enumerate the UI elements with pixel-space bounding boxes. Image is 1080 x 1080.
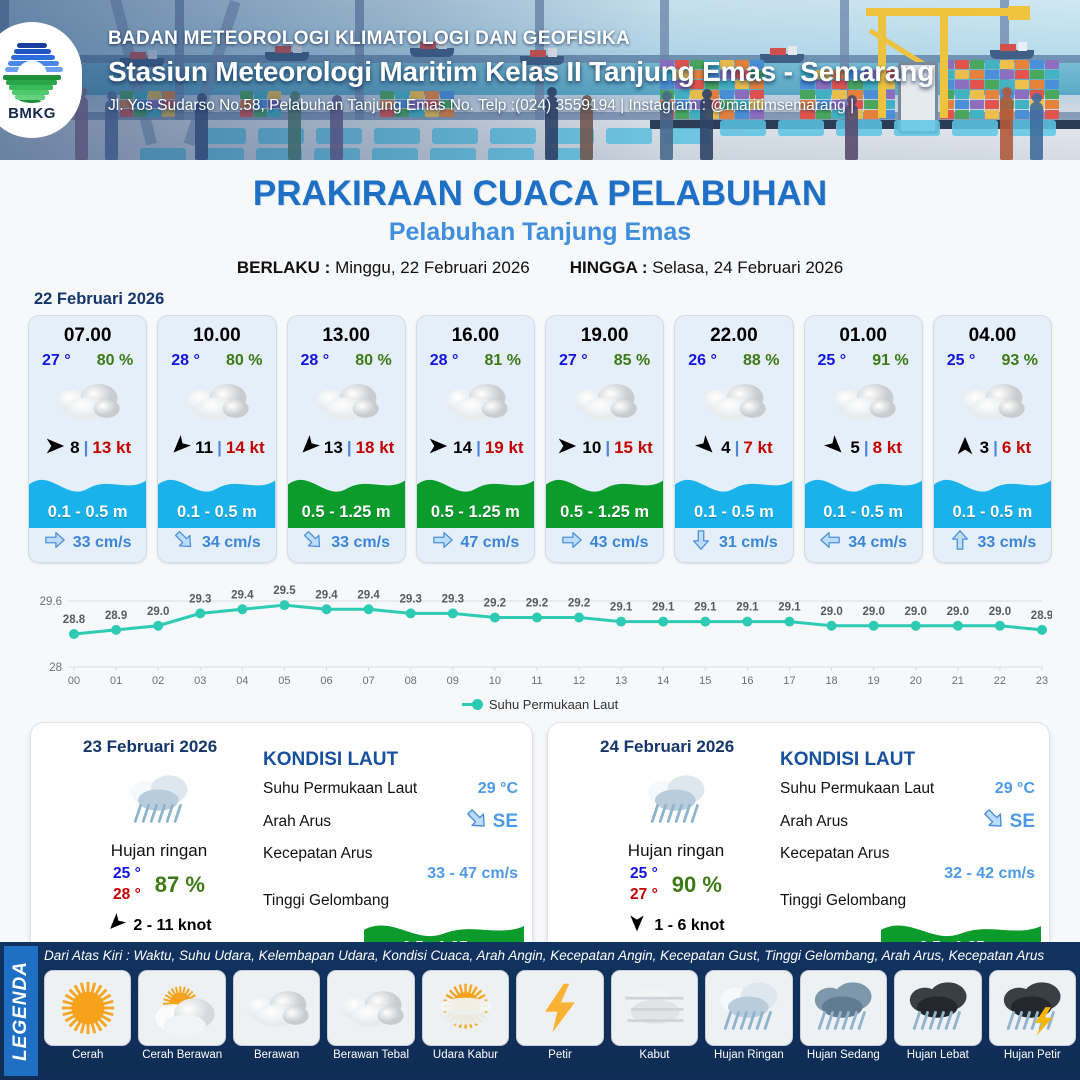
svg-text:14: 14 (657, 675, 669, 687)
svg-text:21: 21 (952, 675, 964, 687)
wind-speed: 3 (980, 438, 989, 458)
svg-text:29.4: 29.4 (315, 589, 338, 601)
svg-text:29.1: 29.1 (694, 602, 717, 614)
daily-forecast-panel: 23 Februari 2026 Hujan ringan 25 ° 28 ° … (30, 722, 533, 964)
legend-panel: LEGENDA Dari Atas Kiri : Waktu, Suhu Uda… (0, 942, 1080, 1080)
chart-legend-label: Suhu Permukaan Laut (489, 697, 618, 712)
forecast-card: 01.00 25 ° 91 % 5 | 8 kt 0.1 - 0.5 m (804, 315, 923, 563)
wind-speed: 11 (195, 438, 213, 458)
forecast-card: 04.00 25 ° 93 % 3 | 6 kt 0.1 - 0.5 m (933, 315, 1052, 563)
card-humidity: 93 % (1002, 352, 1038, 370)
day-date: 23 Februari 2026 (83, 737, 217, 757)
legend-item-label: Berawan (233, 1049, 320, 1061)
svg-text:10: 10 (489, 675, 501, 687)
current-direction-label: Arah Arus (780, 813, 848, 831)
legend-item: Hujan Ringan (705, 970, 792, 1061)
berlaku-group: BERLAKU : Minggu, 22 Februari 2026 (237, 258, 530, 278)
page-subtitle: Pelabuhan Tanjung Emas (0, 218, 1080, 247)
wave-height: 0.5 - 1.25 m (288, 503, 405, 522)
sst-chart: 29.6280001020304050607080910111213141516… (28, 575, 1052, 695)
current-speed: 43 cm/s (590, 534, 649, 552)
current-speed-label: Kecepatan Arus (263, 845, 372, 863)
current-speed: 31 cm/s (719, 534, 778, 552)
chart-legend-dot (472, 699, 483, 710)
hujan-ringan-icon (705, 970, 792, 1046)
svg-text:29.1: 29.1 (652, 602, 675, 614)
current-direction-arrow-icon (465, 807, 489, 836)
current-direction-arrow-icon (561, 529, 583, 556)
svg-text:09: 09 (447, 675, 459, 687)
cerah-icon (44, 970, 131, 1046)
svg-text:29.0: 29.0 (862, 606, 884, 618)
wind-gust: 13 kt (92, 438, 131, 458)
svg-text:12: 12 (573, 675, 585, 687)
wind-gust: 8 kt (873, 438, 902, 458)
wind-separator: | (605, 438, 610, 458)
berawan-icon (29, 372, 146, 430)
svg-text:19: 19 (868, 675, 880, 687)
day-wind-range: 2 - 11 knot (133, 917, 211, 935)
current-direction-arrow-icon (949, 529, 971, 556)
svg-text:11: 11 (531, 675, 542, 687)
day-temp-min: 25 ° (630, 865, 658, 883)
svg-text:18: 18 (825, 675, 837, 687)
current-direction-arrow-icon (432, 529, 454, 556)
legend-item: Hujan Sedang (800, 970, 887, 1061)
current-direction-value: SE (493, 811, 518, 833)
card-temperature: 26 ° (688, 352, 717, 370)
berawan-icon (158, 372, 275, 430)
cerah-berawan-icon (138, 970, 225, 1046)
svg-text:29.0: 29.0 (905, 606, 927, 618)
legend-note: Dari Atas Kiri : Waktu, Suhu Udara, Kele… (44, 948, 1074, 963)
berawan-icon (675, 372, 792, 430)
svg-text:29.3: 29.3 (189, 593, 211, 605)
svg-text:28.9: 28.9 (105, 610, 127, 622)
sst-chart-svg: 29.6280001020304050607080910111213141516… (28, 575, 1052, 695)
wave-height-label: Tinggi Gelombang (780, 892, 906, 910)
card-humidity: 80 % (226, 352, 262, 370)
svg-text:03: 03 (194, 675, 206, 687)
wave-height: 0.5 - 1.25 m (546, 503, 663, 522)
card-humidity: 80 % (97, 352, 133, 370)
svg-text:29.5: 29.5 (273, 585, 296, 597)
current-direction-arrow-icon (173, 529, 195, 556)
card-wind: 13 | 18 kt (288, 436, 405, 460)
legend-item-label: Berawan Tebal (327, 1049, 414, 1061)
bmkg-logo-text: BMKG (0, 105, 65, 122)
legend-item-label: Hujan Ringan (705, 1049, 792, 1061)
berawan-tebal-icon (327, 970, 414, 1046)
legend-item: Petir (516, 970, 603, 1061)
wind-separator: | (864, 438, 869, 458)
current-direction-arrow-icon (819, 529, 841, 556)
berawan-icon (546, 372, 663, 430)
card-current: 33 cm/s (29, 529, 146, 556)
station-name: Stasiun Meteorologi Maritim Kelas II Tan… (108, 56, 934, 88)
wind-separator: | (993, 438, 998, 458)
day-temp-max: 28 ° (113, 886, 141, 904)
hujan-lebat-icon (894, 970, 981, 1046)
wind-direction-arrow-icon (824, 435, 846, 462)
legend-item-label: Hujan Sedang (800, 1049, 887, 1061)
card-current: 31 cm/s (675, 529, 792, 556)
card-time: 10.00 (158, 325, 275, 347)
current-speed: 33 cm/s (73, 534, 132, 552)
agency-name: BADAN METEOROLOGI KLIMATOLOGI DAN GEOFIS… (108, 28, 934, 50)
wind-speed: 14 (453, 438, 472, 458)
card-wind: 4 | 7 kt (675, 436, 792, 460)
sst-value: 29 °C (478, 780, 518, 798)
wave-height: 0.5 - 1.25 m (417, 503, 534, 522)
svg-text:17: 17 (783, 675, 795, 687)
wind-direction-arrow-icon (298, 435, 320, 462)
station-address: Jl. Yos Sudarso No.58, Pelabuhan Tanjung… (108, 97, 934, 115)
legend-item-list: Cerah Cerah Berawan Berawan Berawan Teba… (44, 970, 1076, 1061)
svg-text:29.6: 29.6 (40, 596, 62, 608)
current-speed: 34 cm/s (848, 534, 907, 552)
card-time: 01.00 (805, 325, 922, 347)
card-current: 34 cm/s (805, 529, 922, 556)
legend-item-label: Hujan Petir (989, 1049, 1076, 1061)
day-condition: Hujan ringan (59, 841, 259, 861)
berawan-icon (233, 970, 320, 1046)
day-wind-range: 1 - 6 knot (654, 917, 724, 935)
day-humidity: 87 % (155, 872, 205, 898)
wind-speed: 4 (721, 438, 730, 458)
svg-text:29.2: 29.2 (484, 598, 506, 610)
legend-item: Udara Kabur (422, 970, 509, 1061)
card-temperature: 27 ° (559, 352, 588, 370)
sst-label: Suhu Permukaan Laut (780, 780, 934, 798)
hujan-ringan-icon (59, 763, 259, 839)
svg-text:29.4: 29.4 (357, 589, 380, 601)
hujan-sedang-icon (800, 970, 887, 1046)
svg-text:20: 20 (910, 675, 922, 687)
svg-text:01: 01 (110, 675, 122, 687)
wind-direction-arrow-icon (695, 435, 717, 462)
udara-kabur-icon (422, 970, 509, 1046)
current-speed-label: Kecepatan Arus (780, 845, 889, 863)
legend-item: Berawan (233, 970, 320, 1061)
title-block: PRAKIRAAN CUACA PELABUHAN Pelabuhan Tanj… (0, 174, 1080, 278)
legend-item: Cerah (44, 970, 131, 1061)
legend-item-label: Kabut (611, 1049, 698, 1061)
svg-text:29.0: 29.0 (147, 606, 169, 618)
wind-direction-arrow-icon (556, 435, 578, 462)
wind-direction-arrow-icon (627, 913, 647, 938)
svg-text:29.0: 29.0 (820, 606, 842, 618)
svg-text:02: 02 (152, 675, 164, 687)
wave-height: 0.1 - 0.5 m (29, 503, 146, 522)
legend-item: Berawan Tebal (327, 970, 414, 1061)
current-direction-arrow-icon (302, 529, 324, 556)
kabut-icon (611, 970, 698, 1046)
wind-gust: 18 kt (356, 438, 395, 458)
bmkg-logo-mark (0, 37, 65, 103)
petir-icon (516, 970, 603, 1046)
wind-separator: | (476, 438, 481, 458)
svg-text:28.9: 28.9 (1031, 610, 1052, 622)
legend-side-label: LEGENDA (4, 946, 38, 1076)
card-time: 16.00 (417, 325, 534, 347)
svg-text:29.0: 29.0 (989, 606, 1011, 618)
svg-text:29.1: 29.1 (610, 602, 633, 614)
sst-value: 29 °C (995, 780, 1035, 798)
day-date: 24 Februari 2026 (600, 737, 734, 757)
wave-height: 0.1 - 0.5 m (805, 503, 922, 522)
legend-item-label: Petir (516, 1049, 603, 1061)
wave-height: 0.1 - 0.5 m (934, 503, 1051, 522)
current-speed-value: 32 - 42 cm/s (944, 865, 1035, 883)
legend-item: Kabut (611, 970, 698, 1061)
chart-legend: Suhu Permukaan Laut (0, 697, 1080, 712)
svg-text:23: 23 (1036, 675, 1048, 687)
day-temp-min: 25 ° (113, 865, 141, 883)
current-direction-arrow-icon (690, 529, 712, 556)
current-speed: 33 cm/s (978, 534, 1037, 552)
hingga-group: HINGGA : Selasa, 24 Februari 2026 (570, 258, 843, 278)
legend-item-label: Hujan Lebat (894, 1049, 981, 1061)
wind-speed: 5 (850, 438, 859, 458)
svg-text:28: 28 (49, 662, 62, 674)
current-speed: 34 cm/s (202, 534, 261, 552)
berlaku-label: BERLAKU : (237, 258, 331, 277)
card-time: 19.00 (546, 325, 663, 347)
svg-text:29.1: 29.1 (778, 602, 801, 614)
current-speed-value: 33 - 47 cm/s (427, 865, 518, 883)
forecast-card-list: 07.00 27 ° 80 % 8 | 13 kt 0.1 - 0.5 m (0, 315, 1080, 563)
wind-gust: 14 kt (226, 438, 265, 458)
forecast-card: 22.00 26 ° 88 % 4 | 7 kt 0.1 - 0.5 m (674, 315, 793, 563)
wind-direction-arrow-icon (44, 435, 66, 462)
card-wind: 10 | 15 kt (546, 436, 663, 460)
sst-label: Suhu Permukaan Laut (263, 780, 417, 798)
bmkg-logo: BMKG (0, 22, 82, 138)
card-current: 43 cm/s (546, 529, 663, 556)
card-current: 34 cm/s (158, 529, 275, 556)
page-title: PRAKIRAAN CUACA PELABUHAN (0, 174, 1080, 214)
card-temperature: 25 ° (947, 352, 976, 370)
svg-text:13: 13 (615, 675, 627, 687)
legend-item-label: Cerah (44, 1049, 131, 1061)
wind-direction-arrow-icon (169, 435, 191, 462)
wind-speed: 10 (582, 438, 601, 458)
wind-speed: 8 (70, 438, 79, 458)
card-humidity: 81 % (485, 352, 521, 370)
forecast-card: 13.00 28 ° 80 % 13 | 18 kt 0.5 - 1.25 m (287, 315, 406, 563)
wind-speed: 13 (324, 438, 343, 458)
svg-text:29.0: 29.0 (947, 606, 969, 618)
card-temperature: 28 ° (171, 352, 200, 370)
svg-text:29.4: 29.4 (231, 589, 254, 601)
card-current: 47 cm/s (417, 529, 534, 556)
card-temperature: 25 ° (818, 352, 847, 370)
card-current: 33 cm/s (288, 529, 405, 556)
forecast-card: 07.00 27 ° 80 % 8 | 13 kt 0.1 - 0.5 m (28, 315, 147, 563)
card-time: 04.00 (934, 325, 1051, 347)
card-humidity: 85 % (614, 352, 650, 370)
daily-forecast-list: 23 Februari 2026 Hujan ringan 25 ° 28 ° … (0, 712, 1080, 964)
day-wind: 2 - 11 knot (59, 913, 259, 938)
card-current: 33 cm/s (934, 529, 1051, 556)
legend-item-label: Cerah Berawan (138, 1049, 225, 1061)
svg-text:29.3: 29.3 (400, 593, 422, 605)
wind-direction-arrow-icon (954, 435, 976, 462)
svg-text:00: 00 (68, 675, 80, 687)
day-humidity: 90 % (672, 872, 722, 898)
card-temperature: 28 ° (430, 352, 459, 370)
svg-text:29.2: 29.2 (526, 598, 548, 610)
card-humidity: 88 % (743, 352, 779, 370)
svg-text:29.1: 29.1 (736, 602, 759, 614)
page-header: BMKG BADAN METEOROLOGI KLIMATOLOGI DAN G… (0, 0, 1080, 160)
card-time: 07.00 (29, 325, 146, 347)
wind-gust: 7 kt (743, 438, 772, 458)
wind-gust: 19 kt (485, 438, 524, 458)
svg-text:29.3: 29.3 (442, 593, 464, 605)
validity-row: BERLAKU : Minggu, 22 Februari 2026 HINGG… (0, 258, 1080, 278)
berawan-icon (934, 372, 1051, 430)
card-humidity: 80 % (355, 352, 391, 370)
wave-height-label: Tinggi Gelombang (263, 892, 389, 910)
forecast-card: 19.00 27 ° 85 % 10 | 15 kt 0.5 - 1.25 m (545, 315, 664, 563)
hujan-ringan-icon (576, 763, 776, 839)
wind-separator: | (735, 438, 740, 458)
svg-text:16: 16 (741, 675, 753, 687)
card-wind: 11 | 14 kt (158, 436, 275, 460)
berlaku-value: Minggu, 22 Februari 2026 (335, 258, 530, 277)
wind-gust: 15 kt (614, 438, 653, 458)
svg-text:08: 08 (405, 675, 417, 687)
sea-conditions-title: KONDISI LAUT (263, 749, 518, 771)
wave-height: 0.1 - 0.5 m (675, 503, 792, 522)
card-wind: 8 | 13 kt (29, 436, 146, 460)
card-temperature: 27 ° (42, 352, 71, 370)
current-direction-arrow-icon (982, 807, 1006, 836)
svg-text:05: 05 (278, 675, 290, 687)
wind-direction-arrow-icon (106, 913, 126, 938)
berawan-icon (417, 372, 534, 430)
berawan-icon (288, 372, 405, 430)
legend-item: Cerah Berawan (138, 970, 225, 1061)
card-wind: 3 | 6 kt (934, 436, 1051, 460)
current-direction-label: Arah Arus (263, 813, 331, 831)
wind-separator: | (217, 438, 222, 458)
legend-item: Hujan Petir (989, 970, 1076, 1061)
card-time: 22.00 (675, 325, 792, 347)
current-speed: 47 cm/s (461, 534, 520, 552)
legend-side-text: LEGENDA (10, 961, 32, 1061)
forecast-date-label: 22 Februari 2026 (34, 290, 1080, 309)
svg-text:07: 07 (362, 675, 374, 687)
svg-text:15: 15 (699, 675, 711, 687)
hujan-petir-icon (989, 970, 1076, 1046)
wind-gust: 6 kt (1002, 438, 1031, 458)
card-wind: 5 | 8 kt (805, 436, 922, 460)
wind-separator: | (347, 438, 352, 458)
berawan-icon (805, 372, 922, 430)
forecast-card: 10.00 28 ° 80 % 11 | 14 kt 0.1 - 0.5 m (157, 315, 276, 563)
svg-text:04: 04 (236, 675, 248, 687)
sea-conditions-title: KONDISI LAUT (780, 749, 1035, 771)
legend-item: Hujan Lebat (894, 970, 981, 1061)
day-condition: Hujan ringan (576, 841, 776, 861)
card-humidity: 91 % (872, 352, 908, 370)
current-direction-arrow-icon (44, 529, 66, 556)
hingga-value: Selasa, 24 Februari 2026 (652, 258, 843, 277)
card-temperature: 28 ° (301, 352, 330, 370)
current-speed: 33 cm/s (331, 534, 390, 552)
legend-item-label: Udara Kabur (422, 1049, 509, 1061)
hingga-label: HINGGA : (570, 258, 648, 277)
svg-text:06: 06 (320, 675, 332, 687)
current-direction-value: SE (1010, 811, 1035, 833)
card-time: 13.00 (288, 325, 405, 347)
card-wind: 14 | 19 kt (417, 436, 534, 460)
wave-height: 0.1 - 0.5 m (158, 503, 275, 522)
day-temp-max: 27 ° (630, 886, 658, 904)
svg-text:28.8: 28.8 (63, 614, 86, 626)
day-wind: 1 - 6 knot (576, 913, 776, 938)
forecast-card: 16.00 28 ° 81 % 14 | 19 kt 0.5 - 1.25 m (416, 315, 535, 563)
wind-direction-arrow-icon (427, 435, 449, 462)
daily-forecast-panel: 24 Februari 2026 Hujan ringan 25 ° 27 ° … (547, 722, 1050, 964)
wind-separator: | (84, 438, 89, 458)
svg-text:22: 22 (994, 675, 1006, 687)
svg-text:29.2: 29.2 (568, 598, 590, 610)
